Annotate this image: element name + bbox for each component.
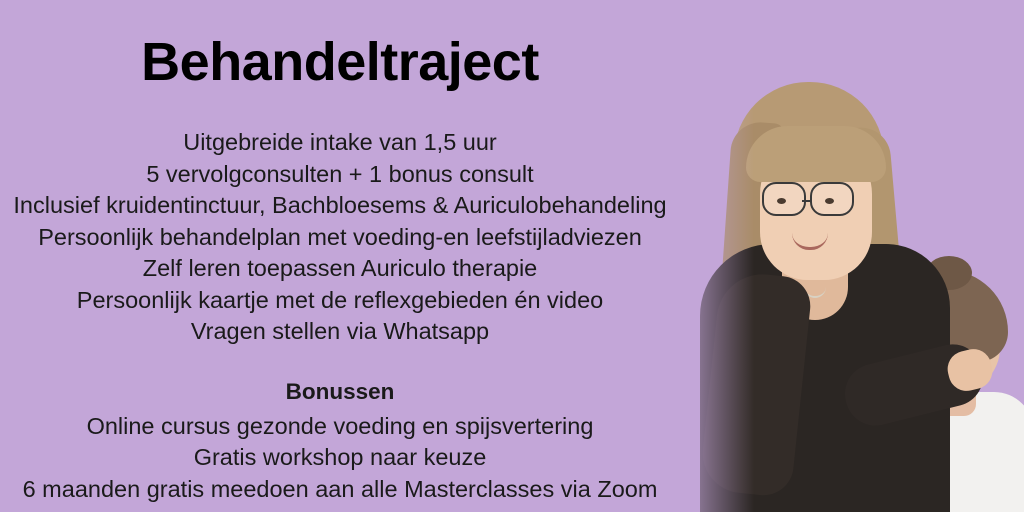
treatment-list: Uitgebreide intake van 1,5 uur 5 vervolg…	[0, 127, 680, 348]
text-block: Behandeltraject Uitgebreide intake van 1…	[0, 0, 680, 512]
list-item: Uitgebreide intake van 1,5 uur	[0, 127, 680, 159]
list-item: Vragen stellen via Whatsapp	[0, 316, 680, 348]
practitioner-eye	[777, 198, 786, 204]
glasses-bridge	[802, 200, 812, 203]
page-title: Behandeltraject	[0, 34, 680, 91]
practitioner-figure	[674, 82, 974, 512]
list-item: Persoonlijk kaartje met de reflexgebiede…	[0, 285, 680, 317]
bonus-item: Online cursus gezonde voeding en spijsve…	[0, 411, 680, 443]
bonus-item: Gratis workshop naar keuze	[0, 442, 680, 474]
bonus-heading: Bonussen	[0, 376, 680, 408]
poster-canvas: Behandeltraject Uitgebreide intake van 1…	[0, 0, 1024, 512]
practitioner-fringe	[746, 126, 886, 182]
list-item: Zelf leren toepassen Auriculo therapie	[0, 253, 680, 285]
list-item: Inclusief kruidentinctuur, Bachbloesems …	[0, 190, 680, 222]
photo-region	[664, 0, 1024, 512]
list-item: 5 vervolgconsulten + 1 bonus consult	[0, 159, 680, 191]
list-item: Persoonlijk behandelplan met voeding-en …	[0, 222, 680, 254]
practitioner-eye	[825, 198, 834, 204]
bonus-item: 6 maanden gratis meedoen aan alle Master…	[0, 474, 680, 506]
bonus-section: Bonussen Online cursus gezonde voeding e…	[0, 376, 680, 505]
